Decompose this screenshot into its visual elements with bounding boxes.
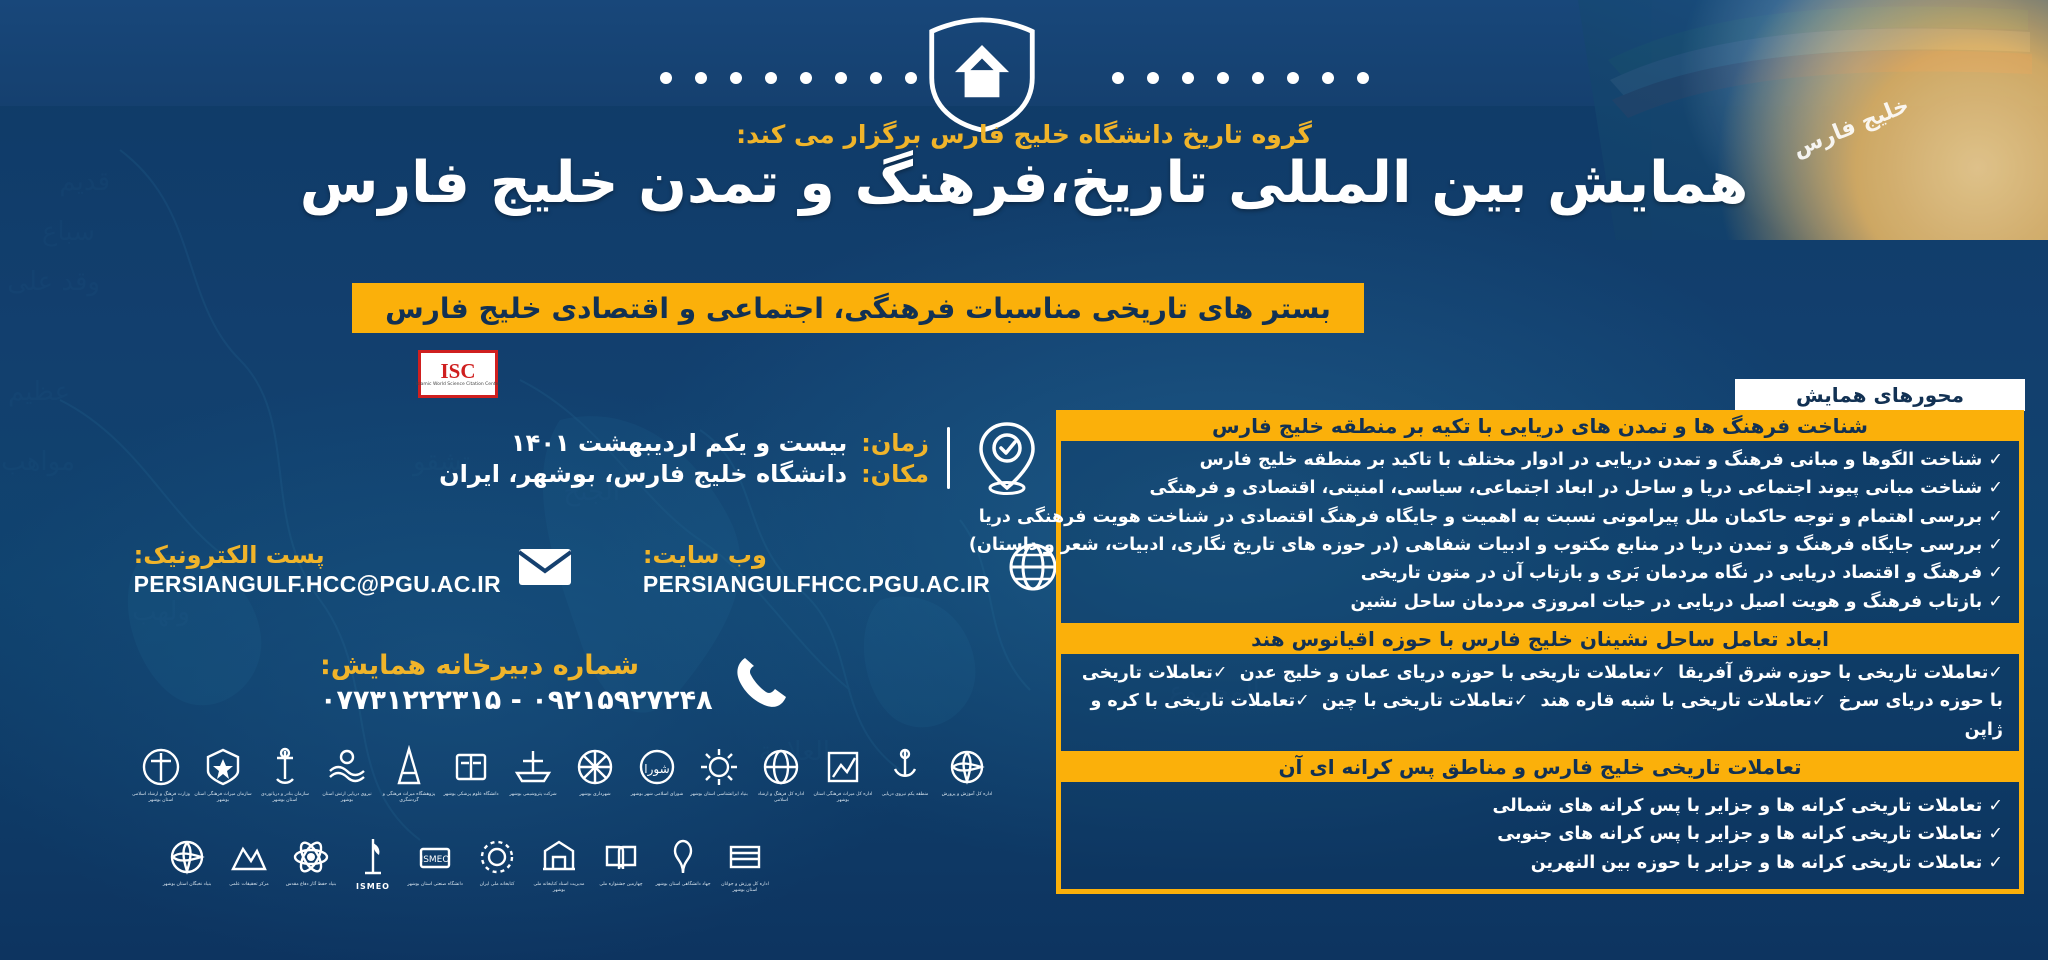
check-icon: ✓ xyxy=(1812,691,1827,711)
conference-poster: قدیم سباع وقد على عظیم مواهب ولهب تشقو ا… xyxy=(0,0,2048,960)
sponsor-logo: جهاد دانشگاهی استان بوشهر xyxy=(652,835,714,923)
check-icon: ✓ xyxy=(1213,663,1228,683)
shura-icon: شورا xyxy=(635,745,679,789)
sponsor-caption: ISMEO xyxy=(356,882,390,892)
check-icon: ✓ xyxy=(1988,663,2003,683)
sponsor-caption: دانشگاه علوم پزشکی بوشهر xyxy=(443,792,498,798)
section-heading: تعاملات تاریخی خلیج فارس و مناطق پس کران… xyxy=(1056,751,2024,782)
sponsor-logo: منطقه یکم نیروی دریایی xyxy=(874,745,936,833)
sponsor-logo: اداره کل فرهنگ و ارشاد اسلامی xyxy=(750,745,812,833)
isc-label: ISC xyxy=(440,361,475,382)
sponsor-caption: اداره کل ورزش و جوانان استان بوشهر xyxy=(715,882,775,894)
axis-item-text: تعاملات تاریخی کرانه ها و جزایر با پس کر… xyxy=(1492,796,1982,816)
atom-icon xyxy=(227,835,271,879)
check-icon: ✓ xyxy=(1988,796,2003,816)
place-label: مکان: xyxy=(861,460,929,488)
sponsor-caption: اداره کل میراث فرهنگی استان بوشهر xyxy=(813,792,873,804)
axis-item: ✓ بازتاب فرهنگ و هویت اصیل دریایی در حیا… xyxy=(1077,588,2003,616)
sponsor-logo: مرکز تحقیقات علمی xyxy=(218,835,280,923)
dot-decoration-left xyxy=(660,72,917,88)
open-book-icon xyxy=(537,835,581,879)
axes-panel-title: محورهای همایش xyxy=(1735,379,2025,411)
sponsor-logo: پژوهشگاه میراث فرهنگی و گردشگری xyxy=(378,745,440,833)
check-icon: ✓ xyxy=(1988,592,2003,612)
check-icon: ✓ xyxy=(1988,563,2003,583)
axis-item: ✓ تعاملات تاریخی کرانه ها و جزایر با پس … xyxy=(1077,820,2003,848)
sponsor-logo: بنیاد نخبگان استان بوشهر xyxy=(156,835,218,923)
date-place-values: زمان: بیست و یکم اردیبهشت ۱۴۰۱ مکان: دان… xyxy=(439,426,929,491)
mountain-icon xyxy=(165,835,209,879)
sponsor-caption: شرکت پتروشیمی بوشهر xyxy=(509,792,556,798)
organizer-line: گروه تاریخ دانشگاه خلیج فارس برگزار می ک… xyxy=(0,120,2048,149)
sponsor-logo: شوراشورای اسلامی شهر بوشهر xyxy=(626,745,688,833)
shield-star-icon xyxy=(201,745,245,789)
isc-sublabel: Islamic World Science Citation Center xyxy=(416,382,501,388)
sponsor-logo: ISMEOدانشگاه صنعتی استان بوشهر xyxy=(404,835,466,923)
website-value[interactable]: PERSIANGULFHCC.PGU.AC.IR xyxy=(643,571,990,598)
iran-emblem-icon xyxy=(139,745,183,789)
section-body: ✓ تعاملات تاریخی کرانه ها و جزایر با پس … xyxy=(1056,782,2024,894)
sponsor-caption: بنیاد حفظ آثار دفاع مقدس xyxy=(286,882,336,888)
date-label: زمان: xyxy=(861,429,929,457)
axes-panel-title-text: محورهای همایش xyxy=(1796,383,1964,407)
check-icon: ✓ xyxy=(1988,824,2003,844)
phone-text: شماره دبیرخانه همایش: ۰۹۲۱۵۹۲۷۲۴۸ - ۰۷۷۳… xyxy=(320,650,713,716)
contact-row: وب سایت: PERSIANGULFHCC.PGU.AC.IR پست ال… xyxy=(120,540,1060,598)
phone-value: ۰۹۲۱۵۹۲۷۲۴۸ - ۰۷۷۳۱۲۲۲۳۱۵ xyxy=(320,685,713,716)
axis-item: ✓ تعاملات تاریخی کرانه ها و جزایر با پس … xyxy=(1077,792,2003,820)
phone-label: شماره دبیرخانه همایش: xyxy=(320,650,639,681)
axis-item-text: بازتاب فرهنگ و هویت اصیل دریایی در حیات … xyxy=(1350,592,1982,612)
phone-icon xyxy=(731,652,789,714)
sponsor-logo: دانشگاه علوم پزشکی بوشهر xyxy=(440,745,502,833)
svg-text:ولهب: ولهب xyxy=(132,597,190,627)
svg-text:عظیم: عظیم xyxy=(8,377,70,407)
check-icon: ✓ xyxy=(1514,691,1529,711)
email-value[interactable]: PERSIANGULF.HCC@PGU.AC.IR xyxy=(134,571,501,598)
website-label: وب سایت: xyxy=(643,541,767,569)
axis-item-text: بررسی جایگاه فرهنگ و تمدن دریا در منابع … xyxy=(969,535,1982,555)
sponsor-logo: وزارت فرهنگ و ارشاد اسلامی استان بوشهر xyxy=(130,745,192,833)
dot-decoration-right xyxy=(1112,72,1369,88)
university-logo-icon xyxy=(924,16,1040,132)
sponsor-caption: چهارمین جشنواره ملی xyxy=(599,882,642,888)
website-text: وب سایت: PERSIANGULFHCC.PGU.AC.IR xyxy=(643,541,990,598)
anchor-icon xyxy=(263,745,307,789)
axis-item-text: فرهنگ و اقتصاد دریایی در نگاه مردمان بَر… xyxy=(1361,563,1983,583)
svg-text:ISMEO: ISMEO xyxy=(421,855,450,865)
globe-icon xyxy=(759,745,803,789)
iran-flag-icon xyxy=(661,835,705,879)
event-info-block: زمان: بیست و یکم اردیبهشت ۱۴۰۱ مکان: دان… xyxy=(120,420,1050,496)
svg-text:سباع: سباع xyxy=(42,217,95,247)
axis-item: ✓ شناخت الگوها و مبانی فرهنگ و تمدن دریا… xyxy=(1077,446,2003,474)
date-place-row: زمان: بیست و یکم اردیبهشت ۱۴۰۱ مکان: دان… xyxy=(120,420,1050,496)
isc-badge: ISC Islamic World Science Citation Cente… xyxy=(418,350,498,398)
seal-icon xyxy=(723,835,767,879)
vertical-divider xyxy=(947,427,950,489)
axis-item: ✓ بررسی جایگاه فرهنگ و تمدن دریا در مناب… xyxy=(1077,531,2003,559)
sponsor-logo: کتابخانه ملی ایران xyxy=(466,835,528,923)
subtitle-text: بستر های تاریخی مناسبات فرهنگی، اجتماعی … xyxy=(385,292,1331,325)
check-icon: ✓ xyxy=(1988,535,2003,555)
section-heading: ابعاد تعامل ساحل نشینان خلیج فارس با حوز… xyxy=(1056,623,2024,654)
sponsor-logo: سازمان بنادر و دریانوردی استان بوشهر xyxy=(254,745,316,833)
tower-icon xyxy=(387,745,431,789)
axis-item: ✓ تعاملات تاریخی کرانه ها و جزایر با حوز… xyxy=(1077,849,2003,877)
check-icon: ✓ xyxy=(1988,478,2003,498)
chart-icon xyxy=(821,745,865,789)
email-contact[interactable]: پست الکترونیک: PERSIANGULF.HCC@PGU.AC.IR xyxy=(134,540,573,598)
sponsor-logos: وزارت فرهنگ و ارشاد اسلامی استان بوشهرسا… xyxy=(130,745,1090,923)
sponsor-logo: اداره کل میراث فرهنگی استان بوشهر xyxy=(812,745,874,833)
check-icon: ✓ xyxy=(1295,691,1310,711)
axis-item-text: تعاملات تاریخی کرانه ها و جزایر با پس کر… xyxy=(1497,824,1982,844)
anchor2-icon xyxy=(883,745,927,789)
axis-item-text: بررسی اهتمام و توجه حاکمان ملل پیرامونی … xyxy=(979,507,1983,527)
axes-panel: شناخت فرهنگ ها و تمدن های دریایی با تکیه… xyxy=(1056,410,2024,894)
sponsor-caption: جهاد دانشگاهی استان بوشهر xyxy=(655,882,710,888)
sponsor-logo: اداره کل آموزش و پرورش xyxy=(936,745,998,833)
date-line: زمان: بیست و یکم اردیبهشت ۱۴۰۱ xyxy=(439,429,929,457)
axis-item: ✓ بررسی اهتمام و توجه حاکمان ملل پیرامون… xyxy=(1077,503,2003,531)
axis-item-text: تعاملات تاریخی با شبه قاره هند xyxy=(1541,691,1812,711)
axis-item-text: شناخت الگوها و مبانی فرهنگ و تمدن دریایی… xyxy=(1200,450,1983,470)
axis-item-text: تعاملات تاریخی با حوزه شرق آفریقا xyxy=(1678,663,1988,683)
sponsor-logo: چهارمین جشنواره ملی xyxy=(590,835,652,923)
sponsor-logo: مدیریت اسناد کتابخانه ملی بوشهر xyxy=(528,835,590,923)
sponsor-caption: مرکز تحقیقات علمی xyxy=(229,882,268,888)
sponsor-logo: شهرداری بوشهر xyxy=(564,745,626,833)
sponsor-row-2: بنیاد نخبگان استان بوشهرمرکز تحقیقات علم… xyxy=(130,835,1090,923)
library-icon xyxy=(475,835,519,879)
book-icon xyxy=(449,745,493,789)
sponsor-caption: شورای اسلامی شهر بوشهر xyxy=(631,792,684,798)
axis-item-text: تعاملات تاریخی کرانه ها و جزایر با حوزه … xyxy=(1531,853,1983,873)
date-value: بیست و یکم اردیبهشت ۱۴۰۱ xyxy=(511,429,847,457)
sponsor-caption: مدیریت اسناد کتابخانه ملی بوشهر xyxy=(529,882,589,894)
sponsor-caption: شهرداری بوشهر xyxy=(579,792,610,798)
ship-icon xyxy=(511,745,555,789)
isc-icon xyxy=(351,835,395,879)
svg-text:مواهب: مواهب xyxy=(1,447,75,477)
axis-item-text: شناخت مبانی پیوند اجتماعی دریا و ساحل در… xyxy=(1150,478,1983,498)
email-label: پست الکترونیک: xyxy=(134,541,325,569)
sponsor-logo: بنیاد حفظ آثار دفاع مقدس xyxy=(280,835,342,923)
sponsor-caption: کتابخانه ملی ایران xyxy=(480,882,515,888)
sponsor-caption: وزارت فرهنگ و ارشاد اسلامی استان بوشهر xyxy=(131,792,191,804)
check-icon: ✓ xyxy=(1651,663,1666,683)
subtitle-banner: بستر های تاریخی مناسبات فرهنگی، اجتماعی … xyxy=(352,283,1364,333)
section-heading: شناخت فرهنگ ها و تمدن های دریایی با تکیه… xyxy=(1056,410,2024,441)
axis-item-group: ✓تعاملات تاریخی با حوزه شرق آفریقا ✓تعام… xyxy=(1077,659,2003,744)
sponsor-logo: سازمان میراث فرهنگی استان بوشهر xyxy=(192,745,254,833)
flower-icon xyxy=(945,745,989,789)
check-icon: ✓ xyxy=(1988,853,2003,873)
check-icon: ✓ xyxy=(1988,507,2003,527)
place-line: مکان: دانشگاه خلیج فارس، بوشهر، ایران xyxy=(439,460,929,488)
sponsor-caption: سازمان میراث فرهنگی استان بوشهر xyxy=(193,792,253,804)
page-title: همایش بین المللی تاریخ،فرهنگ و تمدن خلیج… xyxy=(0,152,2048,216)
sponsor-logo: بنیاد ایرانشناسی استان بوشهر xyxy=(688,745,750,833)
sponsor-logo: ISMEO xyxy=(342,835,404,923)
sponsor-caption: پژوهشگاه میراث فرهنگی و گردشگری xyxy=(379,792,439,804)
section-body: ✓تعاملات تاریخی با حوزه شرق آفریقا ✓تعام… xyxy=(1056,654,2024,751)
axis-item: ✓ شناخت مبانی پیوند اجتماعی دریا و ساحل … xyxy=(1077,474,2003,502)
section-body: ✓ شناخت الگوها و مبانی فرهنگ و تمدن دریا… xyxy=(1056,441,2024,623)
svg-text:شورا: شورا xyxy=(644,762,669,777)
sponsor-caption: بنیاد ایرانشناسی استان بوشهر xyxy=(690,792,748,798)
envelope-icon xyxy=(517,546,573,592)
sponsor-logo: شرکت پتروشیمی بوشهر xyxy=(502,745,564,833)
sponsor-caption: نیروی دریایی ارتش استان بوشهر xyxy=(317,792,377,804)
place-value: دانشگاه خلیج فارس، بوشهر، ایران xyxy=(439,460,847,488)
phone-row: شماره دبیرخانه همایش: ۰۹۲۱۵۹۲۷۲۴۸ - ۰۷۷۳… xyxy=(320,650,789,716)
wave-icon xyxy=(325,745,369,789)
svg-text:وقد على: وقد على xyxy=(7,267,100,297)
sponsor-caption: اداره کل آموزش و پرورش xyxy=(942,792,993,798)
sponsor-caption: منطقه یکم نیروی دریایی xyxy=(882,792,929,798)
gear-wave-icon xyxy=(573,745,617,789)
sponsor-caption: سازمان بنادر و دریانوردی استان بوشهر xyxy=(255,792,315,804)
email-text: پست الکترونیک: PERSIANGULF.HCC@PGU.AC.IR xyxy=(134,541,501,598)
sponsor-logo: اداره کل ورزش و جوانان استان بوشهر xyxy=(714,835,776,923)
axis-item-text: تعاملات تاریخی با حوزه دریای عمان و خلیج… xyxy=(1240,663,1652,683)
check-icon: ✓ xyxy=(1988,450,2003,470)
sponsor-row-1: وزارت فرهنگ و ارشاد اسلامی استان بوشهرسا… xyxy=(130,745,1090,833)
sponsor-caption: اداره کل فرهنگ و ارشاد اسلامی xyxy=(751,792,811,804)
location-pin-icon xyxy=(964,420,1050,496)
sponsor-logo: نیروی دریایی ارتش استان بوشهر xyxy=(316,745,378,833)
sun-icon xyxy=(697,745,741,789)
sponsor-caption: دانشگاه صنعتی استان بوشهر xyxy=(407,882,463,888)
axis-item-text: تعاملات تاریخی با چین xyxy=(1322,691,1514,711)
axis-item: ✓ فرهنگ و اقتصاد دریایی در نگاه مردمان ب… xyxy=(1077,559,2003,587)
tulip-icon xyxy=(599,835,643,879)
gearcog-icon: ISMEO xyxy=(413,835,457,879)
torch-icon xyxy=(289,835,333,879)
sponsor-caption: بنیاد نخبگان استان بوشهر xyxy=(163,882,211,888)
